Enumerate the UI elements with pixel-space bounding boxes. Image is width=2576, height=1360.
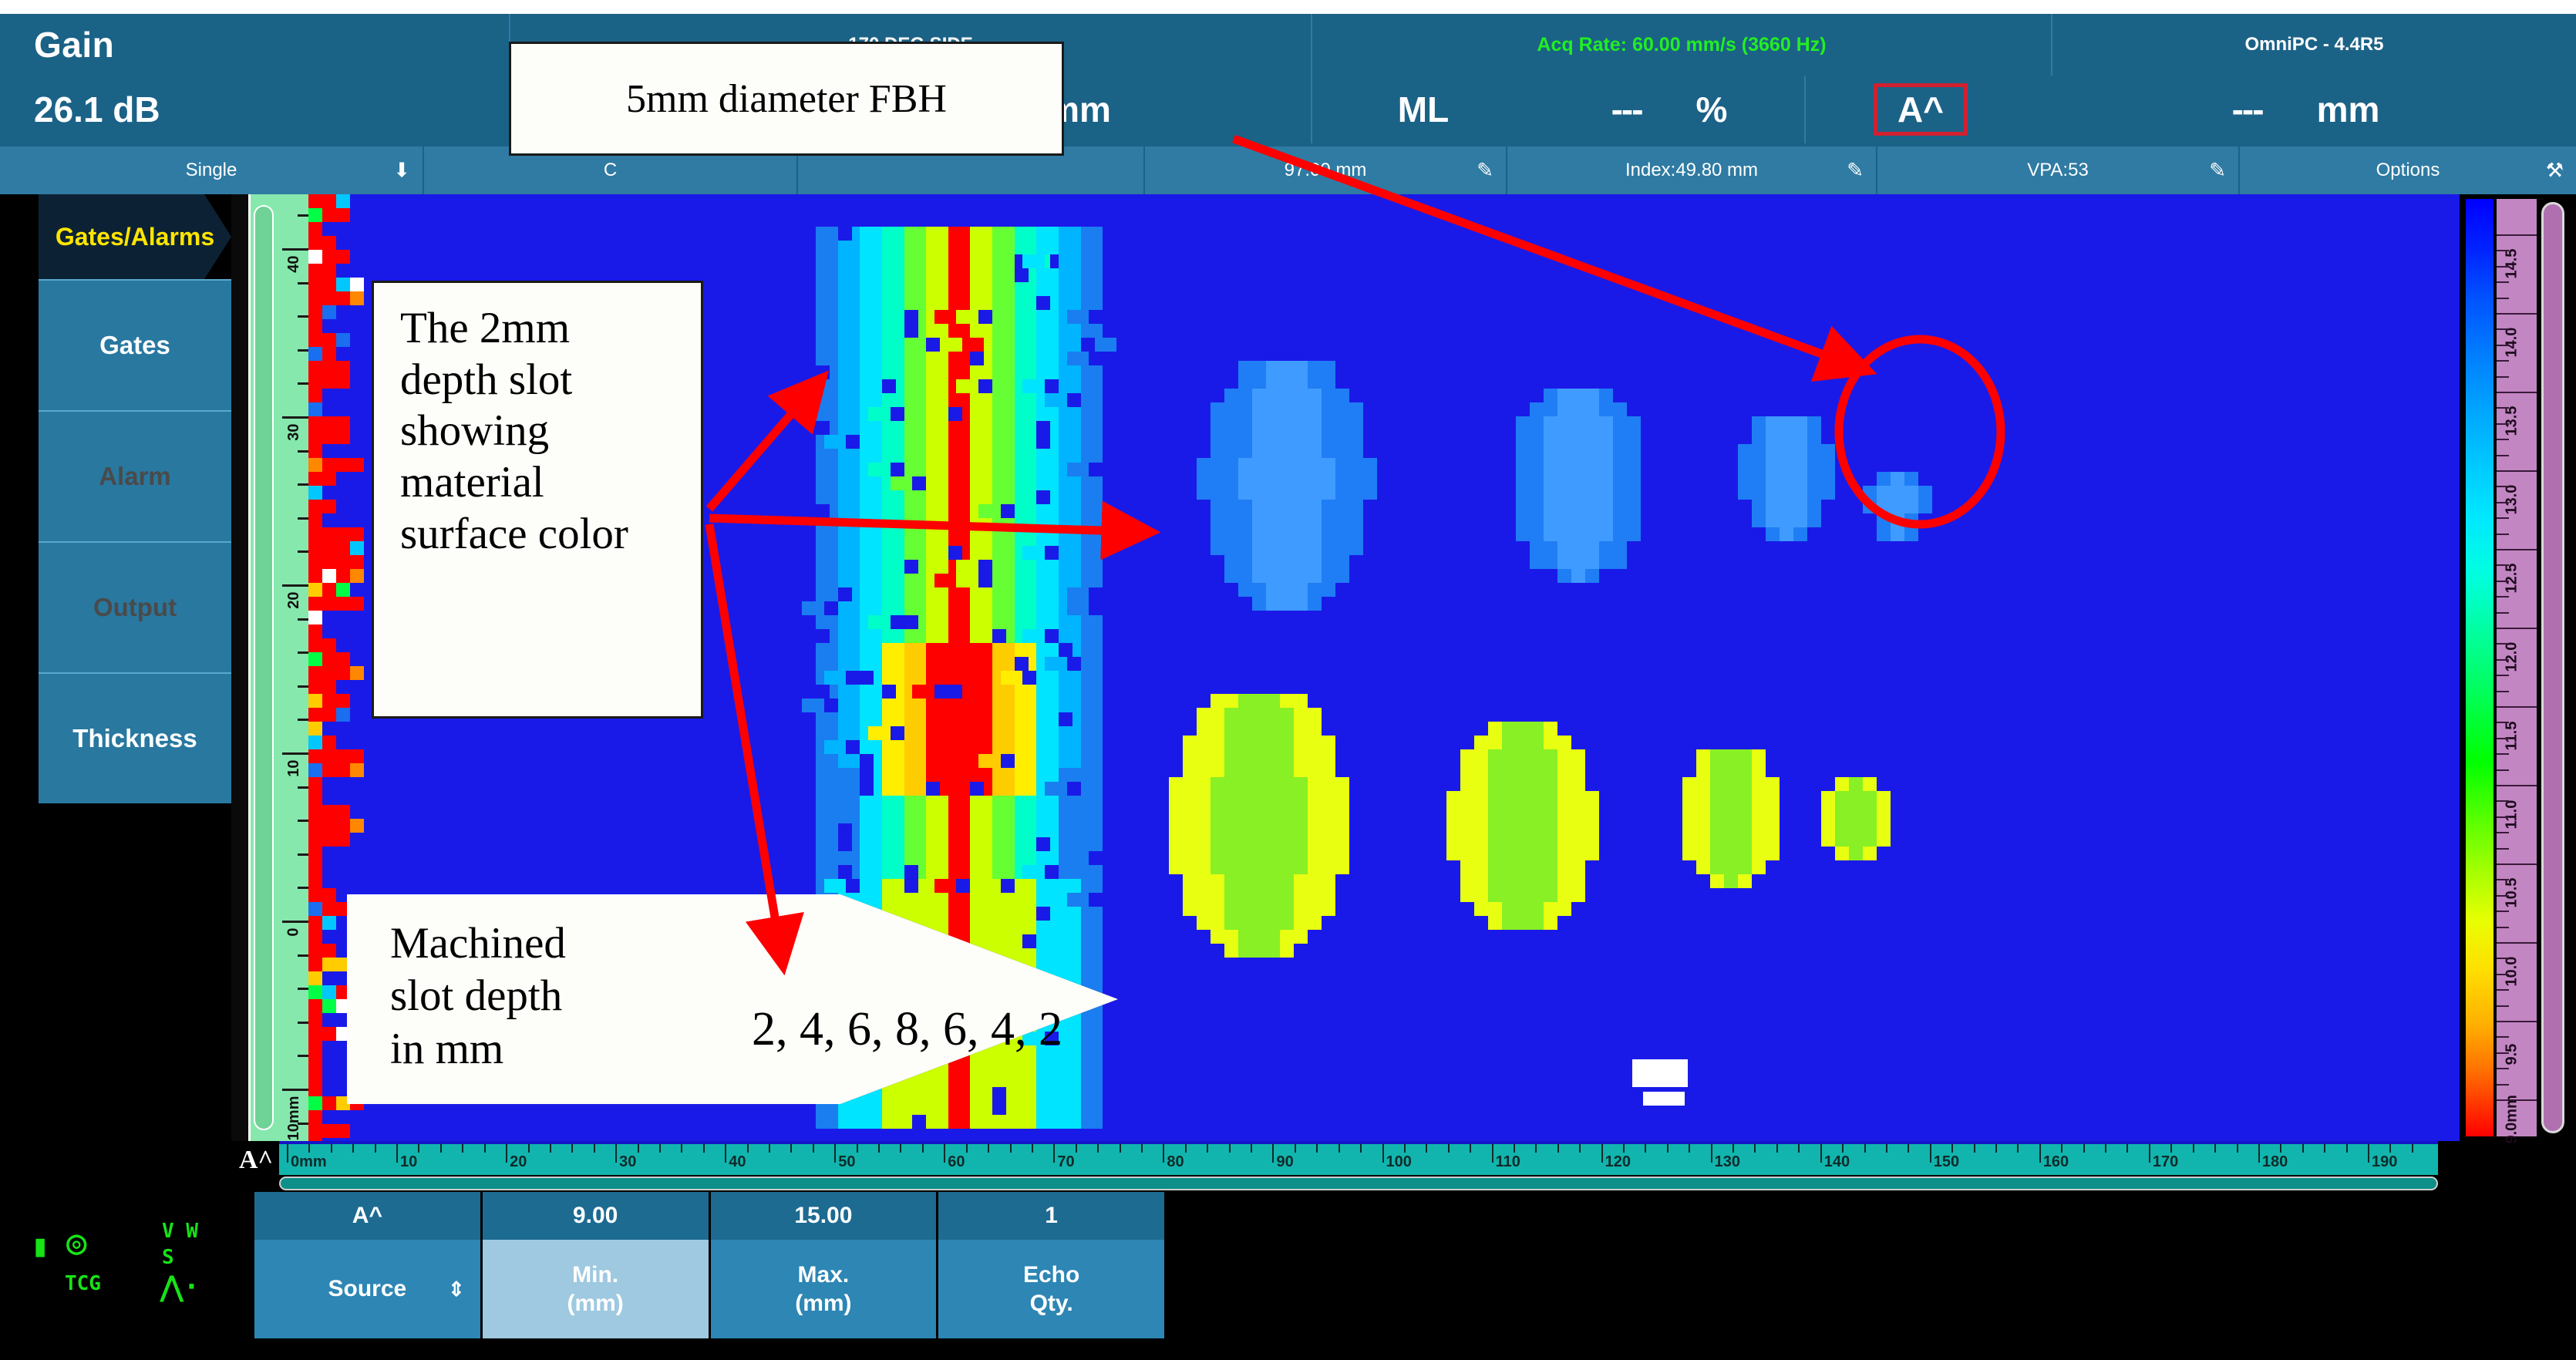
cscan-slot-pixel bbox=[926, 463, 948, 476]
cscan-fbh-indication bbox=[1488, 902, 1502, 916]
scan-ruler-tick-label: 110 bbox=[1496, 1153, 1520, 1171]
cscan-slot-pixel bbox=[1081, 629, 1103, 643]
slot-callout-text: The 2mm depth slot showing material surf… bbox=[400, 304, 628, 558]
scan-ruler-minor-tick bbox=[615, 1144, 617, 1163]
cscan-fbh-indication bbox=[1224, 791, 1238, 805]
cscan-fbh-indication bbox=[1363, 472, 1377, 486]
cscan-slot-pixel bbox=[1059, 254, 1081, 268]
parameter-source[interactable]: A^ Source ⇕ bbox=[254, 1192, 483, 1338]
cscan-slot-pixel bbox=[860, 837, 882, 851]
palette-minor-tick bbox=[2497, 738, 2509, 739]
cscan-slot-pixel bbox=[1067, 601, 1089, 615]
toolbar-item-index[interactable]: Index:49.80 mm ✎ bbox=[1507, 146, 1877, 194]
parameter-echo-qty-label-wrap[interactable]: Echo Qty. bbox=[938, 1240, 1164, 1338]
cscan-fbh-indication bbox=[1238, 791, 1252, 805]
cscan-slot-pixel bbox=[1059, 1059, 1081, 1073]
cscan-fbh-indication bbox=[1738, 749, 1752, 763]
cscan-slot-pixel bbox=[948, 1087, 971, 1101]
cscan-fbh-indication bbox=[1571, 486, 1585, 500]
cscan-fbh-indication bbox=[1266, 402, 1280, 416]
cscan-fbh-indication bbox=[1904, 513, 1918, 527]
cscan-slot-pixel bbox=[1059, 879, 1081, 893]
parameter-echo-qty[interactable]: 1 Echo Qty. bbox=[938, 1192, 1164, 1338]
cscan-slot-pixel bbox=[838, 324, 860, 338]
cscan-slot-pixel bbox=[992, 463, 1015, 476]
cscan-slot-pixel bbox=[1081, 671, 1103, 685]
cscan-slot-pixel bbox=[926, 241, 948, 254]
parameter-min-label-wrap[interactable]: Min. (mm) bbox=[483, 1240, 709, 1338]
color-palette-scrollbar[interactable] bbox=[2541, 202, 2564, 1133]
cscan-fbh-indication bbox=[1627, 458, 1641, 472]
cscan-fbh-indication bbox=[1544, 555, 1557, 569]
cscan-fbh-indication bbox=[1294, 736, 1308, 749]
cscan-slot-pixel bbox=[948, 241, 971, 254]
cscan-slot-pixel bbox=[1059, 1073, 1081, 1087]
cscan-fbh-indication bbox=[1211, 860, 1224, 874]
cscan-slot-pixel bbox=[882, 657, 904, 671]
cscan-slot-pixel bbox=[904, 254, 927, 268]
cscan-fbh-indication bbox=[1294, 361, 1308, 375]
cscan-fbh-indication bbox=[1474, 860, 1488, 874]
cscan-fbh-indication bbox=[1599, 486, 1613, 500]
gain-value-cell[interactable]: 26.1 dB bbox=[0, 76, 509, 143]
toolbar-item-c-label: C bbox=[424, 160, 796, 181]
scan-ruler-minor-tick bbox=[2389, 1144, 2391, 1153]
cscan-slot-pixel bbox=[1015, 310, 1037, 324]
cscan-fbh-indication bbox=[1322, 749, 1335, 763]
cscan-fbh-indication bbox=[1322, 777, 1335, 791]
cscan-fbh-indication bbox=[1627, 430, 1641, 444]
index-ruler-minor-tick bbox=[298, 483, 308, 486]
cscan-slot-pixel bbox=[1015, 296, 1037, 310]
scan-ruler-tick-label: 160 bbox=[2043, 1153, 2069, 1171]
cscan-fbh-indication bbox=[1238, 902, 1252, 916]
app-version-cell: OmniPC - 4.4R5 bbox=[2051, 14, 2576, 76]
cscan-fbh-indication bbox=[1835, 805, 1849, 819]
sidebar-item-thickness[interactable]: Thickness bbox=[39, 672, 231, 803]
cscan-edge-noise-pixel bbox=[322, 597, 336, 611]
palette-minor-tick bbox=[2497, 486, 2509, 487]
cscan-fbh-indication bbox=[1349, 416, 1363, 430]
parameter-source-label-wrap[interactable]: Source ⇕ bbox=[254, 1240, 480, 1338]
index-ruler-minor-tick bbox=[298, 1055, 308, 1057]
scan-ruler-minor-tick bbox=[1645, 1144, 1646, 1153]
cscan-slot-pixel bbox=[1059, 934, 1081, 948]
header-bar: Gain 170 DEG SIDE Acq Rate: 60.00 mm/s (… bbox=[0, 14, 2576, 146]
cscan-fbh-indication bbox=[1280, 694, 1294, 708]
cscan-fbh-indication bbox=[1211, 402, 1224, 416]
cscan-edge-noise-pixel bbox=[322, 985, 336, 999]
cscan-fbh-indication bbox=[1335, 402, 1349, 416]
cscan-fbh-indication bbox=[1322, 513, 1335, 527]
cscan-slot-pixel bbox=[1081, 574, 1103, 587]
cscan-fbh-indication bbox=[1335, 555, 1349, 569]
cscan-slot-pixel bbox=[1059, 810, 1081, 823]
cscan-slot-pixel bbox=[948, 421, 971, 435]
parameter-max-label-wrap[interactable]: Max. (mm) bbox=[711, 1240, 937, 1338]
cscan-fbh-indication bbox=[1807, 472, 1821, 486]
cscan-edge-noise-pixel bbox=[336, 597, 350, 611]
cscan-edge-noise-pixel bbox=[308, 541, 322, 555]
scan-ruler-minor-tick bbox=[1689, 1144, 1690, 1153]
cscan-slot-pixel bbox=[904, 699, 927, 712]
scan-ruler-minor-tick bbox=[2302, 1144, 2304, 1153]
cscan-fbh-indication bbox=[1446, 847, 1460, 860]
cscan-fbh-indication bbox=[1904, 486, 1918, 500]
cscan-fbh-indication bbox=[1238, 763, 1252, 777]
index-ruler-minor-tick bbox=[298, 786, 308, 789]
cscan-fbh-indication bbox=[1335, 569, 1349, 583]
cscan-slot-pixel bbox=[1015, 823, 1037, 837]
scan-ruler-minor-tick bbox=[1514, 1144, 1515, 1153]
scan-ruler-minor-tick bbox=[1820, 1144, 1822, 1163]
cscan-fbh-indication bbox=[1863, 805, 1877, 819]
cscan-fbh-indication bbox=[1224, 555, 1238, 569]
toolbar-item-options[interactable]: Options ⚒ bbox=[2240, 146, 2576, 194]
cscan-slot-pixel bbox=[1036, 685, 1059, 699]
parameter-min[interactable]: 9.00 Min. (mm) bbox=[483, 1192, 711, 1338]
sidebar-header-gates-alarms[interactable]: Gates/Alarms bbox=[39, 194, 231, 279]
cscan-fbh-indication bbox=[1224, 749, 1238, 763]
palette-tick-label: 14.0 bbox=[2504, 328, 2521, 358]
cscan-fbh-indication bbox=[1557, 791, 1571, 805]
cscan-slot-pixel bbox=[992, 615, 1015, 629]
pencil-icon[interactable]: ✎ bbox=[1477, 159, 1493, 183]
cscan-fbh-indication bbox=[1474, 874, 1488, 888]
cscan-slot-pixel bbox=[1015, 893, 1037, 907]
cscan-edge-noise-pixel bbox=[336, 375, 350, 389]
cscan-slot-pixel bbox=[838, 282, 860, 296]
color-palette-panel[interactable]: 14.514.013.513.012.512.011.511.010.510.0… bbox=[2461, 194, 2576, 1141]
cscan-slot-pixel bbox=[904, 1101, 927, 1115]
scan-axis-ruler[interactable]: 0mm1020304050607080901001101201301401501… bbox=[279, 1141, 2438, 1175]
cscan-edge-noise-pixel bbox=[308, 708, 322, 722]
stepper-icon[interactable]: ⇕ bbox=[448, 1277, 465, 1302]
cscan-fbh-indication bbox=[1211, 486, 1224, 500]
cscan-slot-pixel bbox=[816, 407, 838, 421]
cscan-slot-pixel bbox=[904, 532, 927, 546]
cscan-slot-pixel bbox=[992, 476, 1015, 490]
cscan-fbh-indication bbox=[1585, 833, 1599, 847]
cscan-fbh-indication bbox=[1224, 458, 1238, 472]
cscan-slot-pixel bbox=[992, 352, 1015, 365]
cscan-slot-pixel bbox=[956, 379, 978, 393]
cscan-slot-pixel bbox=[838, 449, 860, 463]
index-axis-scrollbar[interactable] bbox=[254, 205, 274, 1130]
cscan-slot-pixel bbox=[992, 227, 1015, 241]
cscan-slot-pixel bbox=[948, 1115, 971, 1129]
cscan-slot-pixel bbox=[948, 782, 971, 796]
cscan-edge-noise-pixel bbox=[308, 361, 322, 375]
cscan-fbh-indication bbox=[1599, 416, 1613, 430]
cscan-fbh-indication bbox=[1266, 458, 1280, 472]
cscan-fbh-indication bbox=[1696, 805, 1710, 819]
cscan-fbh-indication bbox=[1807, 430, 1821, 444]
scan-ruler-minor-tick bbox=[375, 1144, 376, 1153]
cscan-edge-noise-pixel bbox=[308, 291, 322, 305]
scan-ruler-minor-tick bbox=[2039, 1144, 2041, 1163]
cscan-fbh-indication bbox=[1544, 444, 1557, 458]
cscan-slot-pixel bbox=[1059, 865, 1081, 879]
scan-ruler-tick-label: 100 bbox=[1386, 1153, 1412, 1171]
cscan-slot-pixel bbox=[1081, 1045, 1103, 1059]
cscan-fbh-indication bbox=[1266, 416, 1280, 430]
cscan-fbh-indication bbox=[1863, 847, 1877, 860]
cscan-fbh-indication bbox=[1557, 888, 1571, 902]
cscan-slot-pixel bbox=[1036, 241, 1059, 254]
cscan-slot-pixel bbox=[1059, 726, 1081, 740]
toolbar-item-single[interactable]: Single ⬇ bbox=[0, 146, 424, 194]
scan-ruler-minor-tick bbox=[396, 1144, 398, 1163]
reading-a-caret-value-cell[interactable]: --- mm bbox=[2036, 76, 2576, 143]
cscan-fbh-indication bbox=[1211, 722, 1224, 736]
cscan-slot-pixel bbox=[948, 504, 971, 518]
cscan-slot-pixel bbox=[992, 421, 1015, 435]
cscan-fbh-indication bbox=[1224, 402, 1238, 416]
cscan-fbh-indication bbox=[1557, 847, 1571, 860]
palette-minor-tick bbox=[2497, 675, 2509, 676]
cscan-fbh-indication bbox=[1585, 389, 1599, 402]
cscan-fbh-indication bbox=[1183, 777, 1197, 791]
cscan-fbh-indication bbox=[1460, 888, 1474, 902]
cscan-fbh-indication bbox=[1877, 527, 1891, 541]
scan-ruler-minor-tick bbox=[1382, 1144, 1384, 1163]
cscan-fbh-indication bbox=[1766, 847, 1780, 860]
cscan-fbh-indication bbox=[1294, 416, 1308, 430]
cscan-slot-pixel bbox=[992, 282, 1015, 296]
color-palette-ruler[interactable]: 14.514.013.513.012.512.011.511.010.510.0… bbox=[2497, 199, 2537, 1136]
scan-axis-scrollbar[interactable] bbox=[279, 1177, 2438, 1190]
sidebar-item-alarm[interactable]: Alarm bbox=[39, 410, 231, 541]
down-arrow-icon[interactable]: ⬇ bbox=[393, 159, 410, 183]
reading-ml-unit: % bbox=[1696, 89, 1728, 130]
cscan-fbh-indication bbox=[1308, 874, 1322, 888]
cscan-edge-noise-pixel bbox=[308, 278, 322, 291]
cscan-slot-pixel bbox=[868, 407, 891, 421]
cscan-fbh-indication bbox=[1557, 874, 1571, 888]
cscan-slot-pixel bbox=[882, 365, 904, 379]
cscan-fbh-indication bbox=[1335, 430, 1349, 444]
scan-ruler-minor-tick bbox=[944, 1144, 945, 1163]
cscan-fbh-indication bbox=[1710, 777, 1724, 791]
cscan-slot-pixel bbox=[860, 560, 882, 574]
reading-ml-cell[interactable]: ML bbox=[1311, 76, 1534, 143]
cscan-slot-pixel bbox=[992, 338, 1015, 352]
cscan-slot-pixel bbox=[1015, 324, 1037, 338]
palette-minor-tick bbox=[2497, 1084, 2509, 1086]
pencil-icon[interactable]: ✎ bbox=[2209, 159, 2226, 183]
cscan-slot-pixel bbox=[904, 268, 927, 282]
cscan-slot-pixel bbox=[934, 879, 957, 893]
index-axis-ruler[interactable]: 403020100-10mm bbox=[248, 194, 308, 1141]
sidebar-item-gates[interactable]: Gates bbox=[39, 279, 231, 410]
cscan-slot-pixel bbox=[1059, 948, 1081, 962]
cscan-fbh-indication bbox=[1252, 361, 1266, 375]
cscan-slot-pixel bbox=[926, 768, 948, 782]
cscan-fbh-indication bbox=[1516, 916, 1530, 930]
cscan-slot-pixel bbox=[1059, 1101, 1081, 1115]
cscan-fbh-indication bbox=[1197, 458, 1211, 472]
cscan-fbh-indication bbox=[1266, 444, 1280, 458]
cscan-fbh-indication bbox=[1766, 458, 1780, 472]
cscan-slot-pixel bbox=[926, 296, 948, 310]
palette-tick-label: 11.0 bbox=[2504, 800, 2521, 830]
cscan-fbh-indication bbox=[1738, 486, 1752, 500]
cscan-fbh-indication bbox=[1224, 694, 1238, 708]
cscan-slot-pixel bbox=[948, 254, 971, 268]
cscan-fbh-indication bbox=[1322, 444, 1335, 458]
cscan-fbh-indication bbox=[1585, 819, 1599, 833]
cscan-fbh-indication bbox=[1308, 777, 1322, 791]
cscan-slot-pixel bbox=[904, 574, 927, 587]
cscan-slot-pixel bbox=[860, 810, 882, 823]
cscan-edge-noise-pixel bbox=[322, 1027, 336, 1041]
cscan-fbh-indication bbox=[1557, 500, 1571, 513]
cscan-fbh-indication bbox=[1238, 472, 1252, 486]
cscan-edge-noise-pixel bbox=[322, 500, 336, 513]
cscan-slot-pixel bbox=[838, 643, 860, 657]
cscan-fbh-indication bbox=[1544, 916, 1557, 930]
cscan-edge-noise-pixel bbox=[350, 763, 364, 777]
cscan-fbh-indication bbox=[1308, 833, 1322, 847]
cscan-fbh-indication bbox=[1571, 569, 1585, 583]
cscan-slot-pixel bbox=[838, 629, 860, 643]
cscan-fbh-indication bbox=[1335, 847, 1349, 860]
cscan-fbh-indication bbox=[1613, 402, 1627, 416]
cscan-slot-pixel bbox=[962, 338, 985, 352]
cscan-fbh-indication bbox=[1544, 458, 1557, 472]
cscan-fbh-indication bbox=[1224, 389, 1238, 402]
cscan-slot-pixel bbox=[970, 601, 992, 615]
cscan-slot-pixel bbox=[1015, 601, 1037, 615]
scan-ruler-minor-tick bbox=[2368, 1144, 2369, 1163]
palette-minor-tick bbox=[2497, 596, 2509, 598]
cscan-fbh-indication bbox=[1516, 860, 1530, 874]
cscan-slot-pixel bbox=[948, 449, 971, 463]
palette-minor-tick bbox=[2497, 1036, 2509, 1038]
cscan-slot-pixel bbox=[992, 310, 1015, 324]
cscan-fbh-indication bbox=[1710, 860, 1724, 874]
cscan-slot-pixel bbox=[1059, 699, 1081, 712]
toolbar-item-scan-length[interactable]: 97.00 mm ✎ bbox=[1145, 146, 1507, 194]
pencil-icon[interactable]: ✎ bbox=[1847, 159, 1864, 183]
cscan-fbh-indication bbox=[1752, 500, 1766, 513]
cscan-slot-pixel bbox=[816, 449, 838, 463]
scan-ruler-minor-tick bbox=[2214, 1144, 2216, 1153]
cscan-fbh-indication bbox=[1557, 763, 1571, 777]
reading-a-caret-cell[interactable]: A^ bbox=[1804, 76, 2036, 143]
cscan-fbh-indication bbox=[1710, 763, 1724, 777]
cscan-slot-pixel bbox=[860, 685, 882, 699]
cscan-fbh-indication bbox=[1252, 819, 1266, 833]
palette-tick-label: 12.5 bbox=[2504, 564, 2521, 594]
cscan-fbh-indication bbox=[1516, 722, 1530, 736]
cscan-edge-noise-pixel bbox=[308, 638, 322, 652]
cscan-slot-pixel bbox=[1059, 476, 1081, 490]
cscan-fbh-indication bbox=[1571, 458, 1585, 472]
cscan-fbh-indication bbox=[1863, 486, 1877, 500]
scan-ruler-minor-tick bbox=[966, 1144, 968, 1153]
cscan-edge-noise-pixel bbox=[322, 708, 336, 722]
cscan-fbh-indication bbox=[1516, 458, 1530, 472]
cscan-slot-pixel bbox=[1036, 310, 1059, 324]
cscan-fbh-indication bbox=[1224, 930, 1238, 944]
scan-ruler-minor-tick bbox=[594, 1144, 595, 1153]
gain-value: 26.1 dB bbox=[34, 89, 160, 130]
gain-field-label-cell[interactable]: Gain bbox=[0, 14, 509, 76]
parameter-max[interactable]: 15.00 Max. (mm) bbox=[711, 1192, 939, 1338]
cscan-slot-pixel bbox=[816, 379, 838, 393]
cscan-slot-pixel bbox=[1036, 560, 1059, 574]
slot-callout-box: The 2mm depth slot showing material surf… bbox=[372, 281, 703, 719]
cscan-fbh-indication bbox=[1280, 944, 1294, 958]
cscan-fbh-indication bbox=[1169, 791, 1183, 805]
cscan-slot-pixel bbox=[970, 1101, 992, 1115]
cscan-fbh-indication bbox=[1599, 402, 1613, 416]
cscan-fbh-indication bbox=[1530, 833, 1544, 847]
cscan-slot-pixel bbox=[934, 574, 957, 587]
reading-ml-value-cell[interactable]: --- % bbox=[1534, 76, 1804, 143]
sidebar-item-output[interactable]: Output bbox=[39, 541, 231, 672]
cscan-fbh-indication bbox=[1294, 527, 1308, 541]
cscan-slot-pixel bbox=[970, 796, 992, 810]
cscan-fbh-indication bbox=[1322, 888, 1335, 902]
cscan-fbh-indication bbox=[1349, 527, 1363, 541]
cscan-fbh-indication bbox=[1211, 791, 1224, 805]
cscan-slot-pixel bbox=[816, 851, 838, 865]
cscan-slot-pixel bbox=[860, 324, 882, 338]
cscan-slot-pixel bbox=[904, 504, 927, 518]
cscan-slot-pixel bbox=[1015, 241, 1037, 254]
cscan-edge-noise-pixel bbox=[308, 416, 322, 430]
cscan-edge-noise-pixel bbox=[322, 736, 336, 749]
cscan-slot-pixel bbox=[970, 296, 992, 310]
cscan-fbh-indication bbox=[1266, 791, 1280, 805]
palette-minor-tick bbox=[2497, 313, 2509, 315]
cscan-slot-pixel bbox=[882, 490, 904, 504]
scan-ruler-tick-label: 180 bbox=[2262, 1153, 2288, 1171]
sidebar-item-thickness-label: Thickness bbox=[72, 724, 197, 753]
wrench-icon[interactable]: ⚒ bbox=[2546, 159, 2564, 183]
cscan-fbh-indication bbox=[1211, 444, 1224, 458]
scan-ruler-minor-tick bbox=[418, 1144, 419, 1153]
cscan-fbh-indication bbox=[1904, 472, 1918, 486]
cscan-fbh-indication bbox=[1238, 722, 1252, 736]
cscan-fbh-indication bbox=[1627, 444, 1641, 458]
cscan-slot-pixel bbox=[1059, 671, 1081, 685]
cscan-fbh-indication bbox=[1280, 416, 1294, 430]
cscan-fbh-indication bbox=[1766, 430, 1780, 444]
cscan-fbh-indication bbox=[1252, 555, 1266, 569]
cscan-fbh-indication bbox=[1169, 819, 1183, 833]
cscan-fbh-indication bbox=[1322, 791, 1335, 805]
scan-ruler-minor-tick bbox=[1448, 1144, 1450, 1153]
cscan-edge-noise-pixel bbox=[308, 319, 322, 333]
cscan-fbh-indication bbox=[1280, 791, 1294, 805]
cscan-edge-noise-pixel bbox=[350, 458, 364, 472]
cscan-fbh-indication bbox=[1335, 805, 1349, 819]
cscan-slot-pixel bbox=[1059, 907, 1081, 921]
scan-ruler-minor-tick bbox=[484, 1144, 486, 1153]
cscan-slot-pixel bbox=[1081, 1115, 1103, 1129]
cscan-edge-noise-pixel bbox=[350, 527, 364, 541]
cscan-slot-pixel bbox=[882, 1087, 904, 1101]
toolbar-item-vpa[interactable]: VPA:53 ✎ bbox=[1877, 146, 2240, 194]
scan-ruler-minor-tick bbox=[352, 1144, 354, 1153]
cscan-fbh-indication bbox=[1349, 430, 1363, 444]
scan-ruler-minor-tick bbox=[2258, 1144, 2260, 1163]
cscan-fbh-indication bbox=[1308, 819, 1322, 833]
